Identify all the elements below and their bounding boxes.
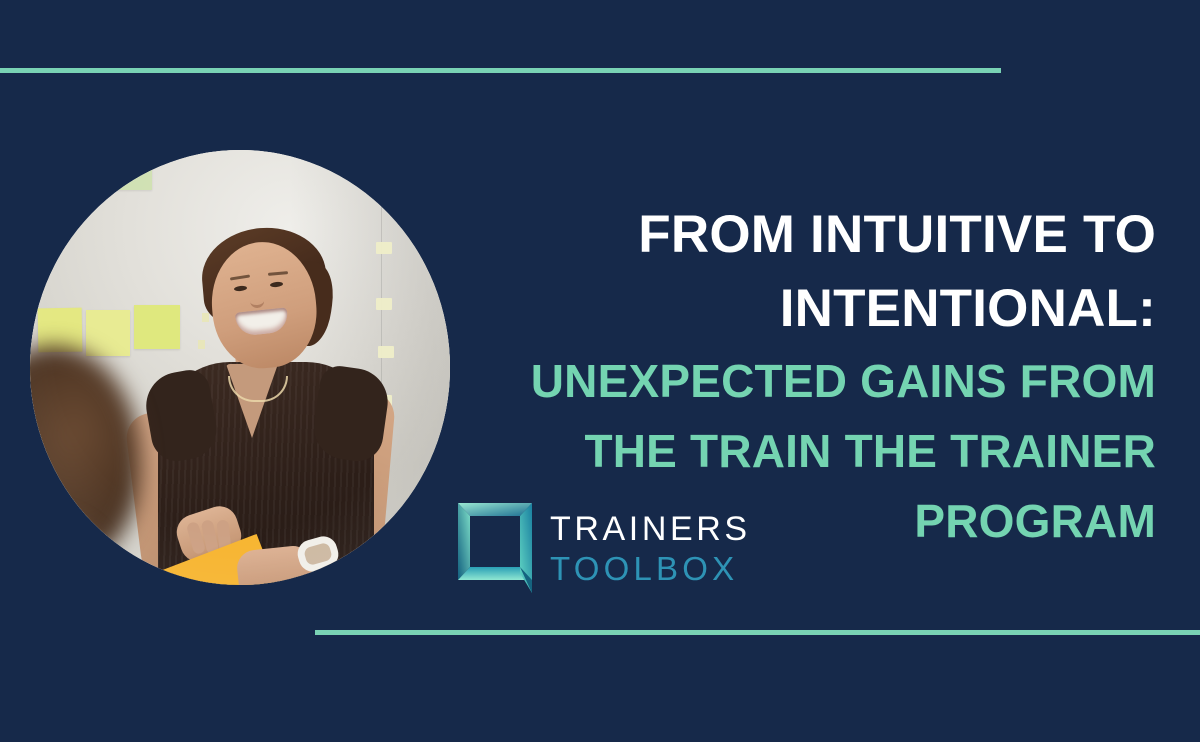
circular-portrait: DECIDE INCLUDE <box>30 150 450 585</box>
decide-card-secondary-text: INCLUDE <box>173 575 217 585</box>
headline-line-2: INTENTIONAL: <box>520 272 1156 346</box>
portrait-image: DECIDE INCLUDE <box>30 150 450 585</box>
logo-text-toolbox: TOOLBOX <box>550 552 751 585</box>
speech-bubble-square-icon <box>458 503 532 593</box>
top-accent-rule <box>0 68 1001 73</box>
headline-line-3: UNEXPECTED GAINS FROM <box>520 346 1156 416</box>
headline-line-1: FROM INTUITIVE TO <box>520 198 1156 272</box>
logo-wordmark: TRAINERS TOOLBOX <box>550 512 751 585</box>
bottom-accent-rule <box>315 630 1200 635</box>
headline-line-4: THE TRAIN THE TRAINER <box>520 416 1156 486</box>
trainers-toolbox-logo[interactable]: TRAINERS TOOLBOX <box>458 503 751 593</box>
feature-graphic-canvas: DECIDE INCLUDE FROM INTUITIVE TO INTENTI… <box>0 0 1200 742</box>
logo-text-trainers: TRAINERS <box>550 512 751 546</box>
